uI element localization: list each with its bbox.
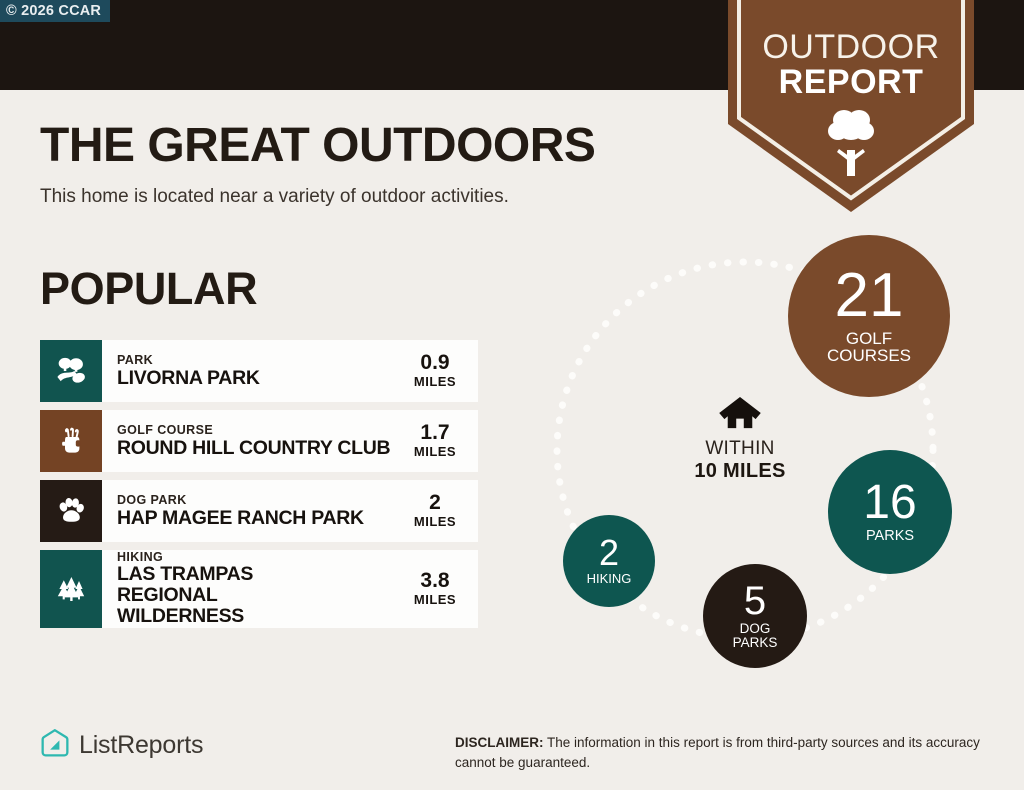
home-icon	[676, 396, 804, 430]
distance-value: 0.9	[420, 352, 449, 374]
bubble-label-line2: COURSES	[827, 347, 911, 365]
list-item[interactable]: DOG PARK HAP MAGEE RANCH PARK 2 MILES	[40, 480, 478, 542]
copyright-badge: © 2026 CCAR	[0, 0, 110, 22]
list-item-category: GOLF COURSE	[117, 423, 394, 437]
paw-print-icon	[40, 480, 102, 542]
distance-value: 2	[429, 492, 441, 514]
list-item-text: DOG PARK HAP MAGEE RANCH PARK	[102, 480, 398, 542]
list-item-distance: 0.9 MILES	[398, 340, 478, 402]
bubble-hiking[interactable]: 2 HIKING	[563, 515, 655, 607]
list-item-name: LIVORNA PARK	[117, 368, 394, 389]
bubble-label-line1: DOG	[740, 622, 771, 636]
listreports-logo-text: ListReports	[79, 731, 203, 760]
list-item-category: PARK	[117, 353, 394, 367]
list-item-text: PARK LIVORNA PARK	[102, 340, 398, 402]
distance-unit: MILES	[414, 514, 456, 530]
shield-line2: REPORT	[779, 63, 924, 101]
distance-unit: MILES	[414, 374, 456, 390]
disclaimer-label: DISCLAIMER:	[455, 735, 544, 750]
list-item-text: GOLF COURSE ROUND HILL COUNTRY CLUB	[102, 410, 398, 472]
list-item-category: HIKING	[117, 550, 394, 564]
list-item-name: LAS TRAMPAS REGIONAL WILDERNESS	[117, 564, 347, 627]
bubble-value: 5	[744, 582, 766, 620]
center-label-line1: WITHIN	[676, 438, 804, 460]
bubble-parks[interactable]: 16 PARKS	[828, 450, 952, 574]
golf-bag-icon	[40, 410, 102, 472]
page-subtitle: This home is located near a variety of o…	[40, 186, 509, 208]
bubble-label-line2: PARKS	[733, 636, 778, 650]
pine-trees-icon	[40, 550, 102, 628]
center-label-line2: 10 MILES	[676, 460, 804, 483]
list-item-category: DOG PARK	[117, 493, 394, 507]
list-item-distance: 3.8 MILES	[398, 550, 478, 628]
park-trees-icon	[40, 340, 102, 402]
list-item-name: ROUND HILL COUNTRY CLUB	[117, 438, 394, 459]
bubble-label-line1: PARKS	[866, 529, 914, 544]
chart-center-label: WITHIN 10 MILES	[676, 396, 804, 483]
section-heading-popular: POPULAR	[40, 266, 257, 311]
page-title: THE GREAT OUTDOORS	[40, 122, 595, 170]
list-item-name: HAP MAGEE RANCH PARK	[117, 508, 394, 529]
list-item[interactable]: HIKING LAS TRAMPAS REGIONAL WILDERNESS 3…	[40, 550, 478, 628]
bubble-value: 21	[835, 267, 904, 326]
shield-line1: OUTDOOR	[762, 28, 939, 66]
listreports-house-icon	[40, 728, 70, 763]
disclaimer: DISCLAIMER: The information in this repo…	[455, 733, 985, 772]
list-item[interactable]: PARK LIVORNA PARK 0.9 MILES	[40, 340, 478, 402]
distance-value: 3.8	[420, 570, 449, 592]
distance-unit: MILES	[414, 592, 456, 608]
list-item-distance: 2 MILES	[398, 480, 478, 542]
bubble-golf-courses[interactable]: 21 GOLF COURSES	[788, 235, 950, 397]
distance-unit: MILES	[414, 444, 456, 460]
list-item[interactable]: GOLF COURSE ROUND HILL COUNTRY CLUB 1.7 …	[40, 410, 478, 472]
bubble-dog-parks[interactable]: 5 DOG PARKS	[703, 564, 807, 668]
popular-list: PARK LIVORNA PARK 0.9 MILES GOLF COURSE …	[40, 340, 478, 636]
outdoor-report-badge: OUTDOOR REPORT	[728, 0, 974, 212]
bubble-value: 16	[863, 480, 916, 526]
bubble-label-line1: GOLF	[846, 330, 892, 348]
bubble-label-line1: HIKING	[587, 572, 632, 586]
bubble-value: 2	[599, 536, 619, 570]
list-item-distance: 1.7 MILES	[398, 410, 478, 472]
distance-value: 1.7	[420, 422, 449, 444]
listreports-logo[interactable]: ListReports	[40, 728, 203, 763]
list-item-text: HIKING LAS TRAMPAS REGIONAL WILDERNESS	[102, 550, 398, 628]
